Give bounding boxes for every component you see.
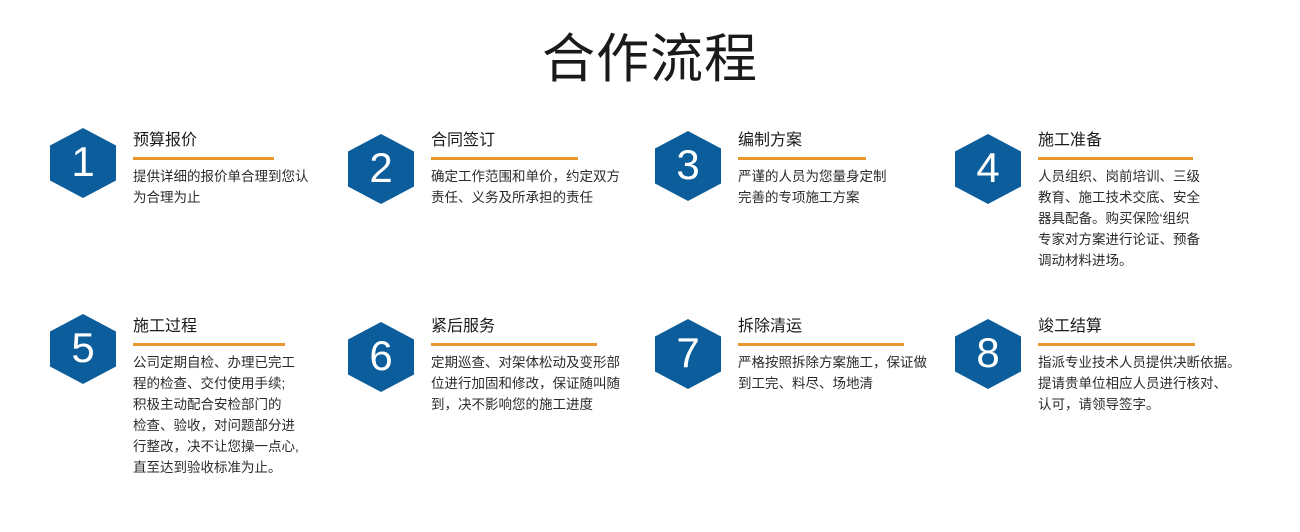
step-number: 1 <box>50 128 116 198</box>
step-item-7: 7 拆除清运 严格按照拆除方案施工，保证做 到工完、料尽、场地清 <box>655 314 927 394</box>
step-title: 施工准备 <box>1038 130 1200 152</box>
title-underline <box>133 343 285 346</box>
step-description: 严格按照拆除方案施工，保证做 到工完、料尽、场地清 <box>738 352 927 394</box>
step-description: 定期巡查、对架体松动及变形部 位进行加固和修改，保证随叫随 到，决不影响您的施工… <box>431 352 620 415</box>
step-description: 严谨的人员为您量身定制 完善的专项施工方案 <box>738 166 887 208</box>
step-badge-5: 5 <box>50 314 116 384</box>
step-badge-1: 1 <box>50 128 116 198</box>
step-item-6: 6 紧后服务 定期巡查、对架体松动及变形部 位进行加固和修改，保证随叫随 到，决… <box>348 314 620 415</box>
step-description: 确定工作范围和单价，约定双方 责任、义务及所承担的责任 <box>431 166 620 208</box>
step-number: 3 <box>655 131 721 201</box>
step-title: 施工过程 <box>133 316 299 338</box>
step-item-2: 2 合同签订 确定工作范围和单价，约定双方 责任、义务及所承担的责任 <box>348 128 620 208</box>
step-text-5: 施工过程 公司定期自检、办理已完工 程的检查、交付使用手续; 积极主动配合安检部… <box>133 314 299 478</box>
step-text-2: 合同签订 确定工作范围和单价，约定双方 责任、义务及所承担的责任 <box>431 128 620 208</box>
step-description: 公司定期自检、办理已完工 程的检查、交付使用手续; 积极主动配合安检部门的 检查… <box>133 352 299 478</box>
step-title: 合同签订 <box>431 130 620 152</box>
step-title: 竣工结算 <box>1038 316 1241 338</box>
title-underline <box>1038 157 1193 160</box>
steps-grid: 1 预算报价 提供详细的报价单合理到您认 为合理为止 2 合同签订 确定工作范围… <box>0 128 1300 532</box>
step-badge-8: 8 <box>955 319 1021 389</box>
step-title: 编制方案 <box>738 130 887 152</box>
step-text-6: 紧后服务 定期巡查、对架体松动及变形部 位进行加固和修改，保证随叫随 到，决不影… <box>431 314 620 415</box>
title-underline <box>738 343 904 346</box>
step-description: 指派专业技术人员提供决断依据。 提请贵单位相应人员进行核对、 认可，请领导签字。 <box>1038 352 1241 415</box>
step-description: 提供详细的报价单合理到您认 为合理为止 <box>133 166 309 208</box>
step-number: 2 <box>348 134 414 204</box>
step-title: 预算报价 <box>133 130 309 152</box>
step-number: 4 <box>955 134 1021 204</box>
step-item-5: 5 施工过程 公司定期自检、办理已完工 程的检查、交付使用手续; 积极主动配合安… <box>50 314 299 478</box>
step-title: 拆除清运 <box>738 316 927 338</box>
step-description: 人员组织、岗前培训、三级 教育、施工技术交底、安全 器具配备。购买保险‘组织 专… <box>1038 166 1200 271</box>
step-number: 8 <box>955 319 1021 389</box>
step-number: 7 <box>655 319 721 389</box>
step-badge-2: 2 <box>348 134 414 204</box>
step-text-4: 施工准备 人员组织、岗前培训、三级 教育、施工技术交底、安全 器具配备。购买保险… <box>1038 128 1200 271</box>
step-badge-3: 3 <box>655 131 721 201</box>
title-underline <box>431 157 578 160</box>
step-number: 6 <box>348 322 414 392</box>
step-item-1: 1 预算报价 提供详细的报价单合理到您认 为合理为止 <box>50 128 309 208</box>
title-underline <box>133 157 274 160</box>
step-badge-7: 7 <box>655 319 721 389</box>
step-item-3: 3 编制方案 严谨的人员为您量身定制 完善的专项施工方案 <box>655 128 887 208</box>
step-item-8: 8 竣工结算 指派专业技术人员提供决断依据。 提请贵单位相应人员进行核对、 认可… <box>955 314 1241 415</box>
step-badge-6: 6 <box>348 322 414 392</box>
step-number: 5 <box>50 314 116 384</box>
title-underline <box>1038 343 1195 346</box>
cooperation-process-infographic: 合作流程 1 预算报价 提供详细的报价单合理到您认 为合理为止 2 合同签订 <box>0 0 1300 532</box>
step-title: 紧后服务 <box>431 316 620 338</box>
step-text-8: 竣工结算 指派专业技术人员提供决断依据。 提请贵单位相应人员进行核对、 认可，请… <box>1038 314 1241 415</box>
page-title: 合作流程 <box>0 28 1300 92</box>
title-underline <box>431 343 597 346</box>
step-item-4: 4 施工准备 人员组织、岗前培训、三级 教育、施工技术交底、安全 器具配备。购买… <box>955 128 1200 271</box>
step-badge-4: 4 <box>955 134 1021 204</box>
step-text-1: 预算报价 提供详细的报价单合理到您认 为合理为止 <box>133 128 309 208</box>
step-text-3: 编制方案 严谨的人员为您量身定制 完善的专项施工方案 <box>738 128 887 208</box>
title-underline <box>738 157 866 160</box>
step-text-7: 拆除清运 严格按照拆除方案施工，保证做 到工完、料尽、场地清 <box>738 314 927 394</box>
